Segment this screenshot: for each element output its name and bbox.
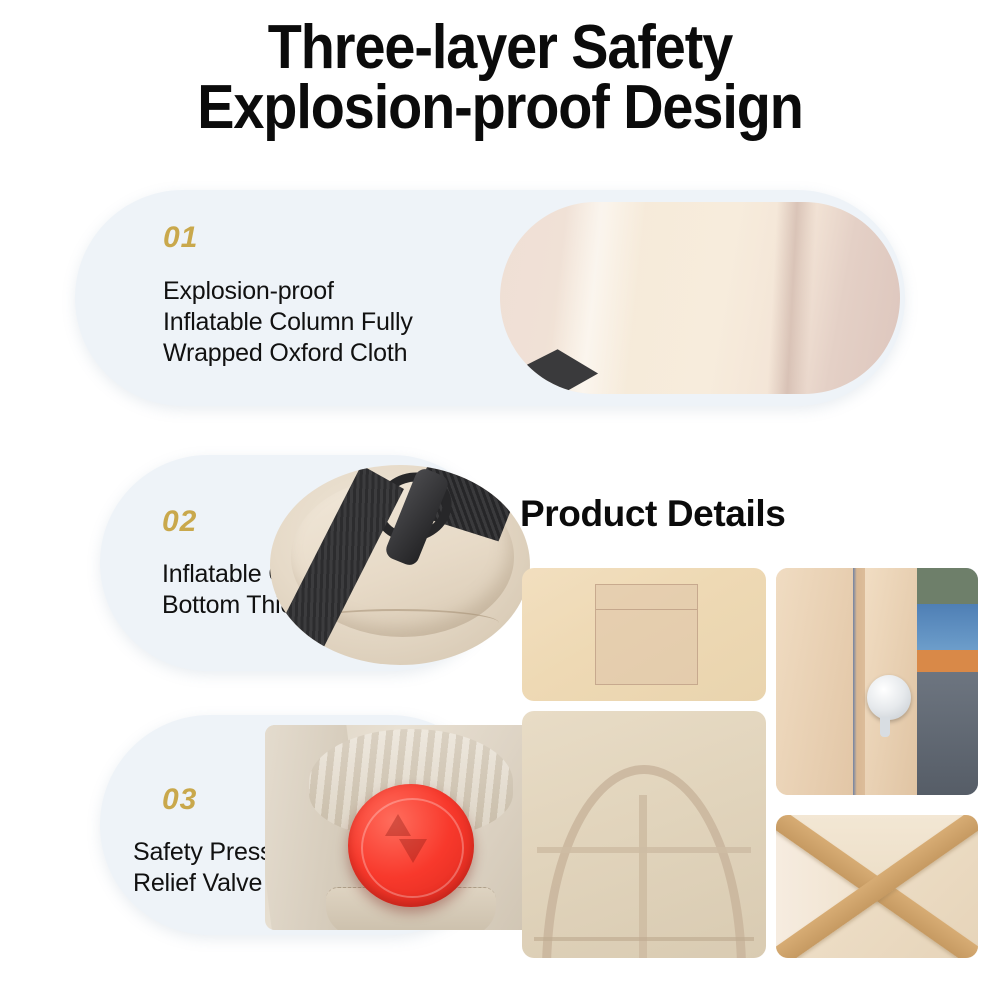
background-trees bbox=[917, 568, 978, 609]
horizontal-seam bbox=[537, 847, 752, 853]
x-cross-seam-photo bbox=[776, 815, 978, 958]
feature-number-03: 03 bbox=[162, 785, 197, 815]
feature-number-02: 02 bbox=[162, 507, 197, 537]
arched-seam-interior-photo bbox=[522, 711, 766, 958]
fabric-patch-photo bbox=[522, 568, 766, 701]
white-inflation-valve bbox=[867, 675, 911, 720]
column-left bbox=[776, 568, 853, 795]
product-details-heading: Product Details bbox=[520, 493, 785, 535]
title-line-2: Explosion-proof Design bbox=[50, 78, 950, 138]
vertical-seam bbox=[639, 795, 647, 958]
bottom-hem bbox=[534, 937, 754, 941]
cloth-fold bbox=[766, 202, 818, 394]
page-title: Three-layer Safety Explosion-proof Desig… bbox=[0, 18, 1000, 138]
oxford-cloth-column-photo bbox=[500, 202, 900, 394]
red-valve-cap bbox=[348, 784, 475, 907]
background-orange-track bbox=[909, 650, 978, 673]
valve-emboss-icon bbox=[375, 814, 446, 880]
title-line-1: Three-layer Safety bbox=[50, 18, 950, 78]
feature-text-01: Explosion-proof Inflatable Column Fully … bbox=[163, 276, 413, 369]
background-blue-track bbox=[909, 604, 978, 654]
background-pavement bbox=[909, 672, 978, 795]
inflation-valve-column-photo bbox=[776, 568, 978, 795]
thickened-bottom-buckle-photo bbox=[270, 465, 530, 665]
reinforcement-patch bbox=[595, 584, 697, 685]
red-pressure-relief-valve-photo bbox=[265, 725, 540, 930]
feature-number-01: 01 bbox=[163, 223, 198, 253]
